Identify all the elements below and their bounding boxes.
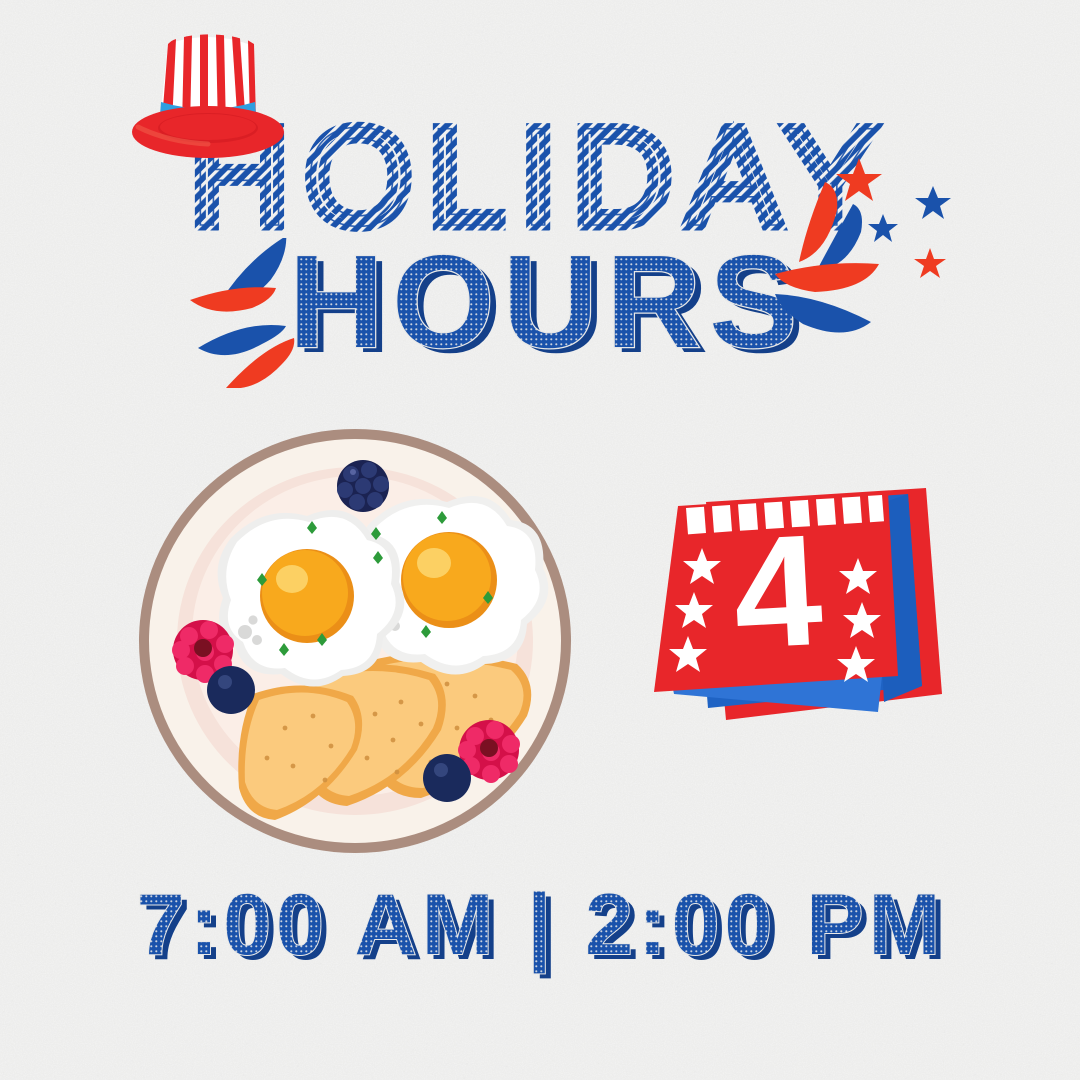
calendar-date-number: 4 xyxy=(729,502,826,682)
firework-burst-right-icon xyxy=(775,152,990,357)
star-blue-right xyxy=(915,186,951,219)
star-red-top xyxy=(836,158,882,201)
headline-hours-text: HOURS xyxy=(289,248,806,373)
star-red-low xyxy=(914,248,946,278)
breakfast-plate-illustration xyxy=(135,428,575,858)
desk-calendar-illustration: 4 xyxy=(630,480,960,760)
blackberry-top xyxy=(337,460,389,512)
blueberry-left xyxy=(207,666,255,714)
star-blue-mid xyxy=(868,214,898,242)
opening-hours-text: 7:00 AM | 2:00 PM xyxy=(137,880,945,973)
firework-burst-left-icon xyxy=(178,238,298,388)
holiday-hours-poster: HOLIDAY HOLIDAY HOURS HOURS xyxy=(0,0,1080,1080)
blueberry-right xyxy=(423,754,471,802)
opening-hours-line: 7:00 AM | 2:00 PM 7:00 AM | 2:00 PM xyxy=(0,880,1080,985)
uncle-sam-hat-icon xyxy=(128,24,288,174)
